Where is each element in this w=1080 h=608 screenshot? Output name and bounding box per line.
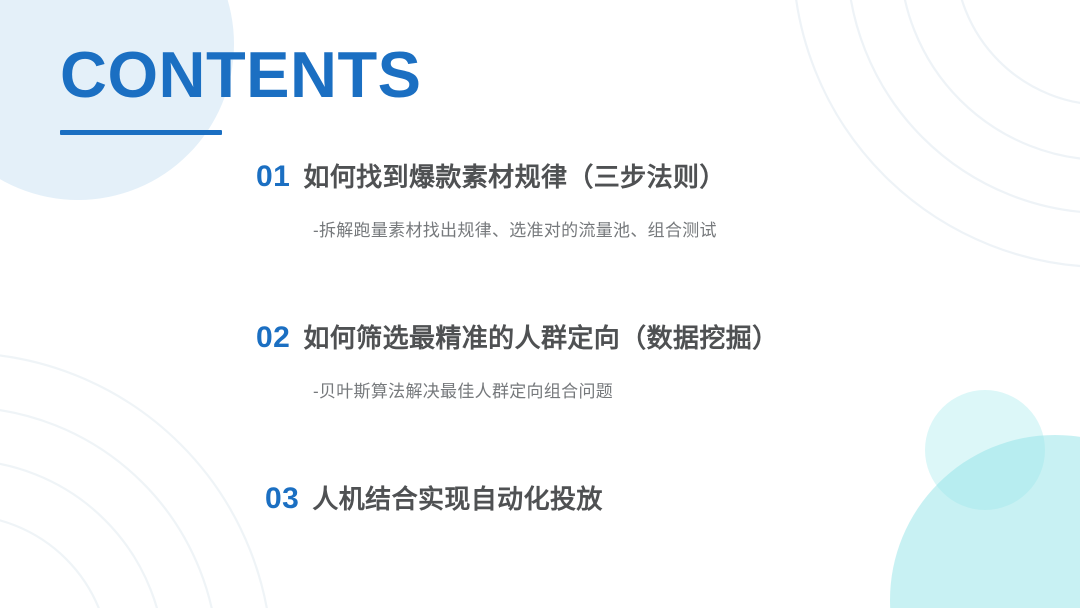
item-subtext-02: -贝叶斯算法解决最佳人群定向组合问题	[313, 377, 1056, 402]
item-number-02: 02	[256, 321, 290, 355]
item-subtext-01: -拆解跑量素材找出规律、选准对的流量池、组合测试	[313, 216, 1056, 241]
contents-list: 01 如何找到爆款素材规律（三步法则） -拆解跑量素材找出规律、选准对的流量池、…	[256, 157, 1056, 516]
contents-slide: CONTENTS 01 如何找到爆款素材规律（三步法则） -拆解跑量素材找出规律…	[0, 0, 1080, 608]
list-item[interactable]: 03 人机结合实现自动化投放	[265, 479, 1056, 516]
content-item-row-1: 01 如何找到爆款素材规律（三步法则）	[256, 157, 1056, 194]
item-number-03: 03	[265, 482, 299, 516]
content-item-row-3: 03 人机结合实现自动化投放	[265, 479, 1056, 516]
item-heading-01: 如何找到爆款素材规律（三步法则）	[303, 157, 725, 194]
list-item[interactable]: 02 如何筛选最精准的人群定向（数据挖掘） -贝叶斯算法解决最佳人群定向组合问题	[256, 318, 1056, 402]
content-item-row-2: 02 如何筛选最精准的人群定向（数据挖掘）	[256, 318, 1056, 355]
item-heading-02: 如何筛选最精准的人群定向（数据挖掘）	[303, 318, 778, 355]
page-title: CONTENTS	[60, 38, 422, 112]
title-block: CONTENTS	[60, 38, 422, 135]
item-number-01: 01	[256, 160, 290, 194]
title-underline	[60, 130, 222, 135]
list-item[interactable]: 01 如何找到爆款素材规律（三步法则） -拆解跑量素材找出规律、选准对的流量池、…	[256, 157, 1056, 241]
item-heading-03: 人机结合实现自动化投放	[312, 479, 602, 516]
